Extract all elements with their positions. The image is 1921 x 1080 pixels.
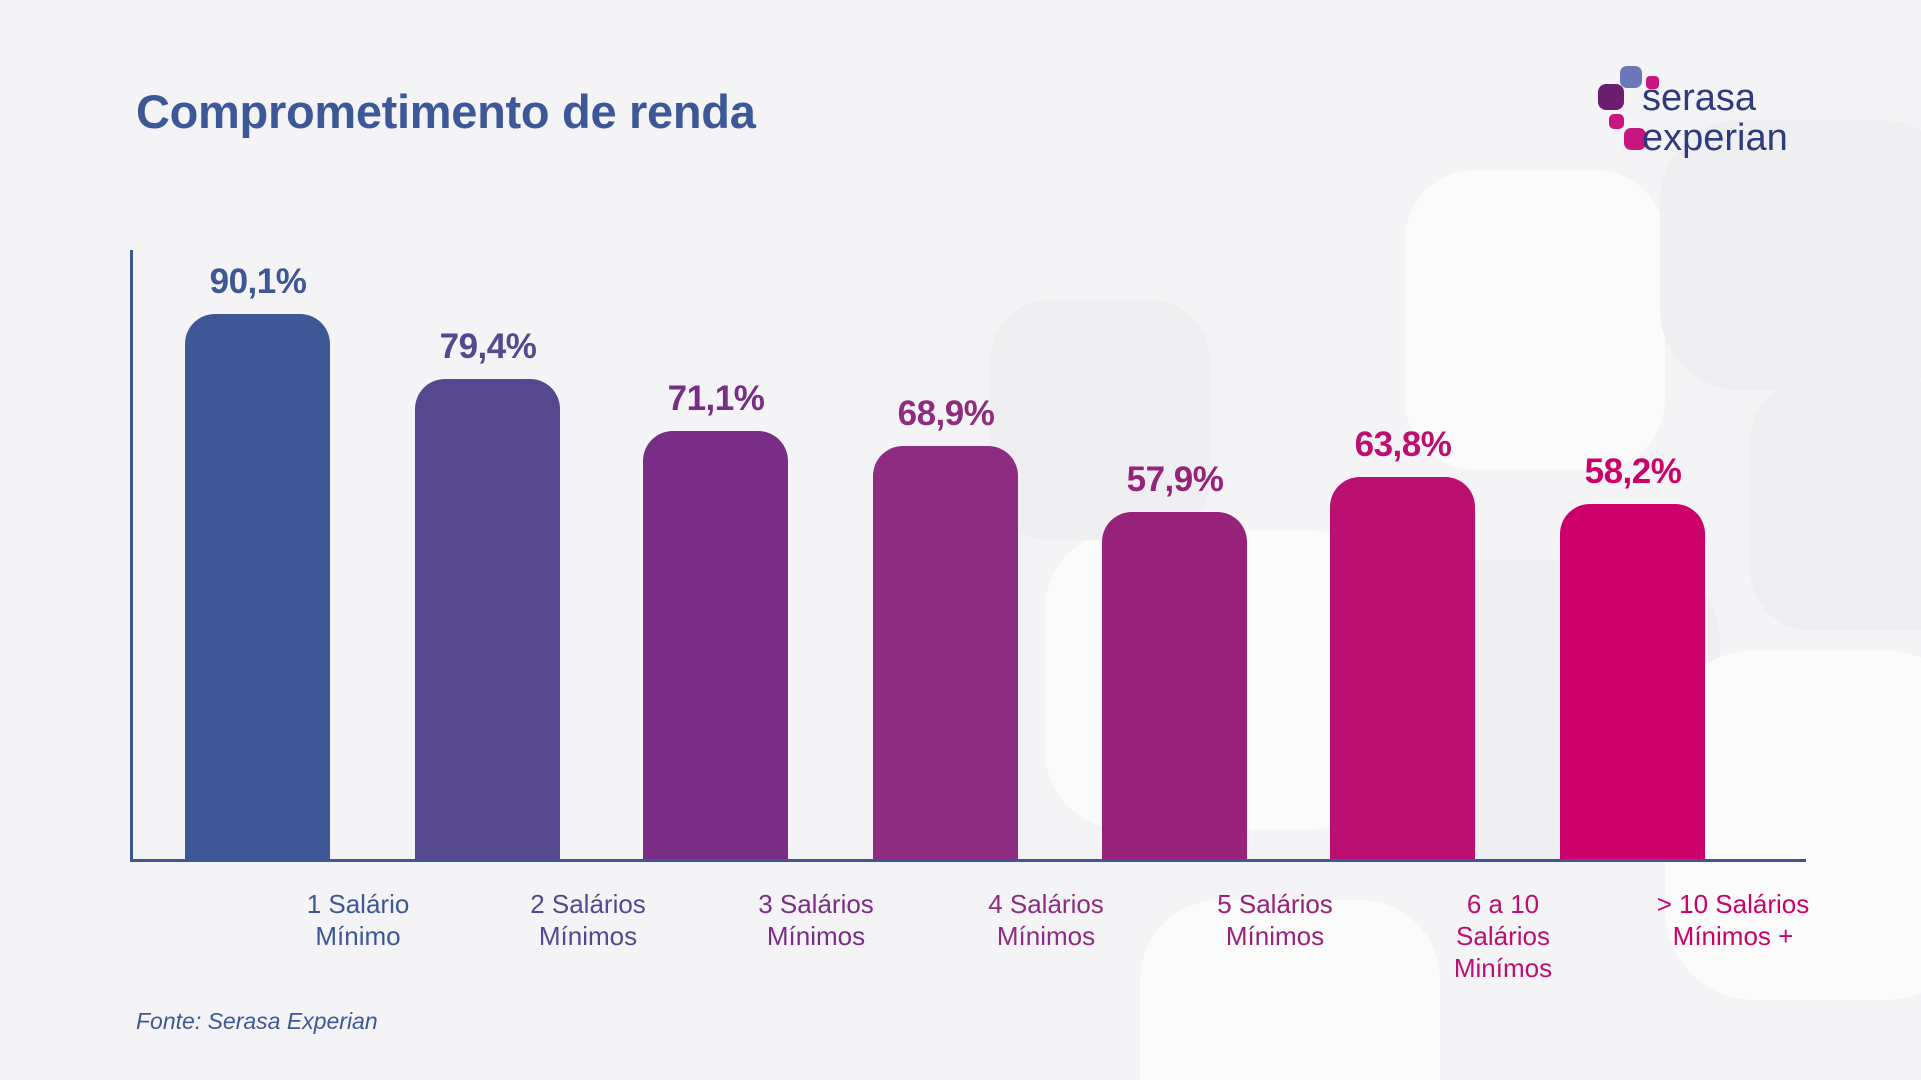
bar-group[interactable]: 63,8%	[1330, 477, 1475, 859]
serasa-experian-logo: serasa experian	[1598, 62, 1798, 162]
y-axis-line	[130, 250, 133, 862]
bar-value-label: 68,9%	[816, 394, 1076, 434]
bar[interactable]	[1560, 504, 1705, 859]
logo-text-serasa: serasa	[1642, 77, 1757, 119]
bar-group[interactable]: 71,1%	[643, 431, 788, 859]
bar[interactable]	[873, 446, 1018, 859]
x-axis-label-line: > 10 Salários	[1583, 888, 1883, 920]
logo-text-experian: experian	[1642, 117, 1788, 159]
page-title: Comprometimento de renda	[136, 84, 756, 139]
bar-value-label: 90,1%	[128, 262, 388, 302]
logo-mark-square-purple	[1598, 84, 1624, 110]
bar-value-label: 71,1%	[586, 379, 846, 419]
bar-group[interactable]: 90,1%	[185, 314, 330, 859]
bar[interactable]	[1330, 477, 1475, 859]
bar[interactable]	[643, 431, 788, 859]
logo-mark-square-pink-2	[1609, 114, 1624, 129]
x-axis-label-line: Mínimos +	[1583, 920, 1883, 952]
bar-value-label: 79,4%	[358, 327, 618, 367]
x-axis-label-line: Minímos	[1353, 952, 1653, 984]
bar[interactable]	[1102, 512, 1247, 859]
bar-group[interactable]: 58,2%	[1560, 504, 1705, 859]
x-axis-category-label: > 10 SaláriosMínimos +	[1583, 888, 1883, 952]
bar[interactable]	[185, 314, 330, 859]
x-axis-line	[130, 859, 1806, 862]
bar-group[interactable]: 57,9%	[1102, 512, 1247, 859]
bar-value-label: 57,9%	[1045, 460, 1305, 500]
bar-group[interactable]: 79,4%	[415, 379, 560, 859]
source-note: Fonte: Serasa Experian	[136, 1008, 378, 1035]
bar-value-label: 63,8%	[1273, 425, 1533, 465]
bar-value-label: 58,2%	[1503, 452, 1763, 492]
logo-mark-square-blue	[1620, 66, 1642, 88]
bar-chart: 90,1%79,4%71,1%68,9%57,9%63,8%58,2%	[130, 240, 1810, 880]
bar[interactable]	[415, 379, 560, 859]
bar-group[interactable]: 68,9%	[873, 446, 1018, 859]
